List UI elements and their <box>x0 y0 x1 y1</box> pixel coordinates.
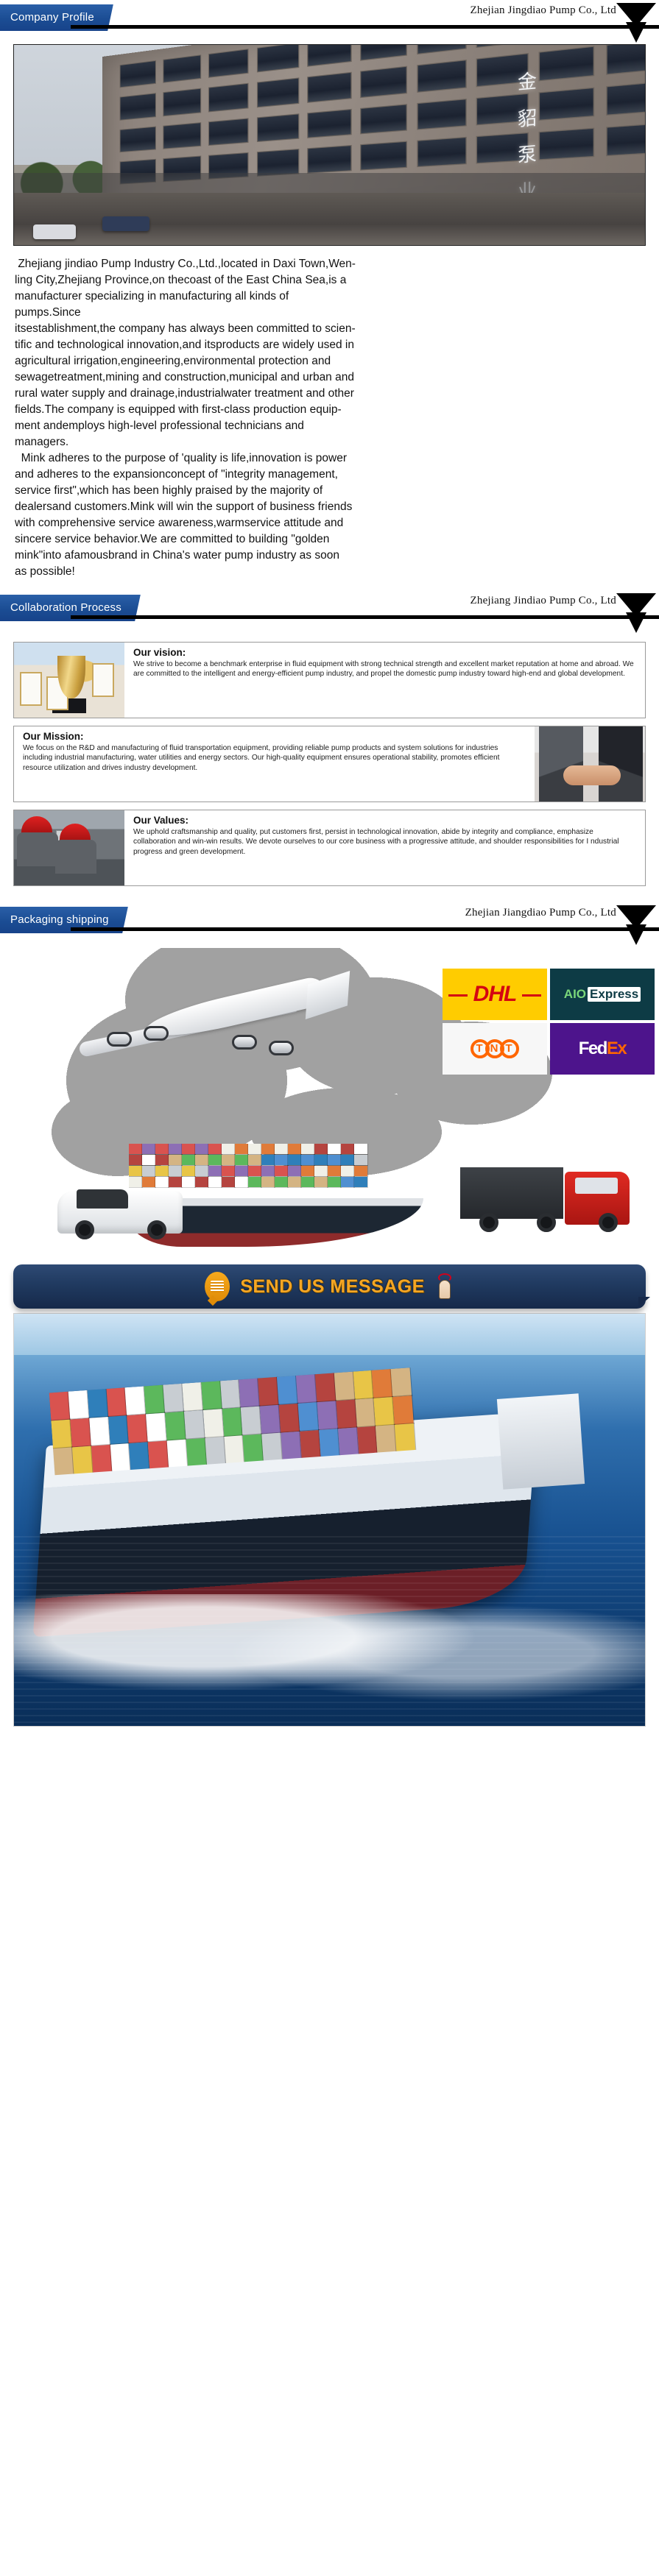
building-window <box>417 60 466 93</box>
shipping-container <box>129 1144 142 1154</box>
shipping-container <box>144 1384 165 1414</box>
shipping-container <box>354 1177 367 1187</box>
shipping-container <box>341 1166 354 1176</box>
shipping-container <box>353 1370 374 1399</box>
shipping-container <box>328 1166 341 1176</box>
building-window <box>208 49 248 79</box>
shipping-container <box>130 1442 150 1471</box>
card-text: Our Mission: We focus on the R&D and man… <box>14 726 535 802</box>
shipping-container <box>129 1166 142 1176</box>
semi-truck-icon <box>460 1164 630 1241</box>
shipping-container <box>334 1371 355 1401</box>
shipping-container <box>248 1166 261 1176</box>
shipping-container <box>222 1177 235 1187</box>
shipping-container <box>195 1166 208 1176</box>
building-window <box>307 109 351 138</box>
shipping-container <box>52 1419 72 1448</box>
building-window <box>257 45 299 73</box>
value-cards-list: Our vision: We strive to become a benchm… <box>13 642 646 886</box>
shipping-container <box>248 1144 261 1154</box>
card-our-mission: Our Mission: We focus on the R&D and man… <box>13 726 646 802</box>
shipping-container <box>220 1379 241 1409</box>
shipping-container <box>222 1166 235 1176</box>
shipping-container <box>169 1144 182 1154</box>
building-window <box>539 127 595 160</box>
shipping-container <box>208 1155 222 1165</box>
shipping-container <box>186 1438 207 1468</box>
shipping-container <box>288 1166 301 1176</box>
header-company-name: Zhejian Jiangdiao Pump Co., Ltd <box>465 907 616 919</box>
logo-dhl: DHL <box>443 969 547 1020</box>
building-window <box>606 45 645 75</box>
shipping-container <box>354 1155 367 1165</box>
section-header-packaging-shipping: Packaging shipping Zhejian Jiangdiao Pum… <box>0 902 659 941</box>
card-title: Our Mission: <box>23 731 527 742</box>
shipping-container <box>208 1144 222 1154</box>
shipping-container <box>288 1177 301 1187</box>
shipping-container <box>72 1446 93 1474</box>
parked-car <box>102 216 149 231</box>
ex-wordmark: Ex <box>607 1038 626 1059</box>
shipping-container <box>163 1383 184 1412</box>
shipping-container <box>275 1166 288 1176</box>
dhl-wordmark: DHL <box>468 982 523 1007</box>
shipping-container <box>395 1423 415 1453</box>
card-title: Our Values: <box>133 815 638 826</box>
triangle-marker-small-icon <box>626 612 646 633</box>
shipping-container <box>248 1155 261 1165</box>
shipping-container <box>208 1166 222 1176</box>
shipping-container <box>319 1429 339 1458</box>
shipping-container <box>142 1144 155 1154</box>
building-window <box>307 45 351 68</box>
shipping-container <box>376 1425 397 1454</box>
shipping-container <box>315 1373 336 1402</box>
sea-photo-frame <box>13 1313 646 1727</box>
shipping-container <box>195 1177 208 1187</box>
shipping-container <box>201 1381 222 1410</box>
tnt-letter: T <box>500 1039 519 1058</box>
header-company-name: Zhejiang Jindiao Pump Co., Ltd <box>471 595 617 607</box>
shipping-container <box>317 1401 338 1430</box>
shipping-container <box>277 1376 297 1405</box>
shipping-container <box>275 1177 288 1187</box>
building-window <box>606 123 645 157</box>
shipping-container <box>195 1144 208 1154</box>
shipping-container <box>53 1447 74 1475</box>
shipping-container <box>49 1391 70 1420</box>
courier-logos: DHL AIOExpress TNT FedEx <box>443 969 656 1075</box>
sky-region <box>14 1314 645 1355</box>
shipping-container <box>260 1404 281 1434</box>
shipping-container <box>155 1155 169 1165</box>
building-window <box>361 45 408 62</box>
shipping-container <box>243 1434 264 1463</box>
shipping-container <box>300 1430 321 1459</box>
building-window <box>163 88 201 116</box>
fence <box>14 173 645 193</box>
shipping-container <box>182 1155 195 1165</box>
send-us-message-button[interactable]: SEND US MESSAGE <box>13 1264 646 1309</box>
building-window <box>307 145 351 174</box>
shipping-container <box>314 1177 328 1187</box>
header-rule <box>71 25 659 29</box>
shipping-container <box>275 1155 288 1165</box>
building-window <box>119 93 155 121</box>
building-window <box>361 104 408 134</box>
building-window <box>417 137 466 167</box>
shipping-container <box>235 1144 248 1154</box>
shipping-container <box>338 1427 359 1457</box>
shipping-container <box>341 1177 354 1187</box>
shipping-container <box>298 1402 319 1432</box>
header-rule <box>71 615 659 619</box>
shipping-container <box>182 1144 195 1154</box>
building-window <box>257 113 299 142</box>
shipping-illustration: DHL AIOExpress TNT FedEx <box>0 944 659 1260</box>
header-company-name: Zhejian Jingdiao Pump Co., Ltd <box>471 4 617 17</box>
shipping-container <box>106 1387 127 1417</box>
shipping-container <box>281 1432 302 1461</box>
card-title: Our vision: <box>133 647 638 658</box>
shipping-container <box>142 1166 155 1176</box>
logo-aio-express: AIOExpress <box>550 969 655 1020</box>
shipping-container <box>341 1144 354 1154</box>
shipping-container <box>205 1437 226 1466</box>
building-window <box>417 45 466 55</box>
shipping-container <box>242 1406 262 1435</box>
handshake <box>563 765 621 785</box>
shipping-container <box>288 1144 301 1154</box>
sign-char-1: 金 <box>518 71 537 92</box>
shipping-container <box>224 1435 244 1465</box>
header-rule <box>71 927 659 931</box>
shipping-container <box>169 1155 182 1165</box>
building-window <box>119 61 155 89</box>
shipping-container <box>393 1395 414 1425</box>
shipping-container <box>68 1390 89 1419</box>
factory-photo-frame: 金 貂 泵 业 <box>13 44 646 246</box>
card-text: Our Values: We uphold craftsmanship and … <box>124 810 645 885</box>
shipping-container <box>108 1415 129 1445</box>
card-our-values: Our Values: We uphold craftsmanship and … <box>13 810 646 886</box>
shipping-container <box>91 1445 112 1474</box>
chat-bubble-icon <box>205 1272 230 1301</box>
shipping-container <box>355 1398 376 1427</box>
send-message-banner-wrap: SEND US MESSAGE <box>13 1264 646 1309</box>
shipping-container <box>183 1382 203 1412</box>
shipping-container <box>328 1177 341 1187</box>
logo-fedex: FedEx <box>550 1023 655 1075</box>
shipping-container <box>354 1166 367 1176</box>
shipping-container <box>155 1144 169 1154</box>
card-body: We strive to become a benchmark enterpri… <box>133 659 638 679</box>
shipping-container <box>288 1155 301 1165</box>
section-header-company-profile: Company Profile Zhejian Jingdiao Pump Co… <box>0 0 659 38</box>
shipping-container <box>248 1177 261 1187</box>
shipping-container <box>341 1155 354 1165</box>
worker-coat <box>17 832 58 866</box>
ship-bridge <box>497 1393 585 1490</box>
shipping-container <box>262 1432 283 1462</box>
shipping-container <box>301 1166 314 1176</box>
worker-coat <box>55 840 96 874</box>
shipping-container <box>222 1407 243 1437</box>
shipping-container <box>182 1166 195 1176</box>
building-window <box>361 141 408 170</box>
building-window <box>208 83 248 112</box>
building-window <box>539 46 595 81</box>
shipping-container <box>391 1367 412 1397</box>
card-our-vision: Our vision: We strive to become a benchm… <box>13 642 646 718</box>
building-window <box>476 45 529 49</box>
container-ship-at-sea-photo <box>14 1314 645 1726</box>
shipping-container <box>372 1369 392 1398</box>
building-window <box>163 122 201 149</box>
shipping-container <box>88 1389 108 1418</box>
banner-tail <box>638 1297 650 1307</box>
shipping-container <box>301 1144 314 1154</box>
shipping-container <box>314 1166 328 1176</box>
logo-tnt: TNT <box>443 1023 547 1075</box>
shipping-container <box>314 1144 328 1154</box>
shipping-container <box>275 1144 288 1154</box>
shipping-container <box>71 1418 91 1447</box>
cargo-plane-icon <box>63 977 357 1066</box>
building-window <box>119 126 155 152</box>
shipping-container <box>357 1426 378 1455</box>
trophy-and-certificates-photo <box>14 643 124 718</box>
shipping-container <box>222 1144 235 1154</box>
building-window <box>606 81 645 116</box>
express-wordmark: Express <box>588 987 641 1002</box>
triangle-marker-small-icon <box>626 924 646 945</box>
delivery-van-icon <box>57 1178 190 1241</box>
shipping-container <box>314 1155 328 1165</box>
fed-wordmark: Fed <box>579 1038 607 1059</box>
shipping-container <box>261 1155 275 1165</box>
shipping-container <box>336 1399 356 1429</box>
shipping-container <box>169 1166 182 1176</box>
shipping-container <box>239 1378 260 1407</box>
building-window <box>257 78 299 107</box>
aio-wordmark: AIO <box>564 987 586 1002</box>
company-profile-text: Zhejiang jindiao Pump Industry Co.,Ltd.,… <box>15 256 644 580</box>
shipping-container <box>258 1376 279 1406</box>
shipping-container <box>155 1166 169 1176</box>
shipping-container <box>301 1177 314 1187</box>
building-window <box>163 55 201 84</box>
building-window <box>208 118 248 146</box>
shipping-container <box>147 1412 167 1442</box>
building-window <box>307 73 351 103</box>
triangle-marker-small-icon <box>626 22 646 43</box>
shipping-container <box>110 1443 131 1473</box>
workers-red-helmets-photo <box>14 810 124 885</box>
card-body: We focus on the R&D and manufacturing of… <box>23 743 527 773</box>
shipping-container <box>165 1411 186 1440</box>
shipping-container <box>235 1177 248 1187</box>
click-hand-icon <box>435 1274 454 1299</box>
shipping-container <box>125 1386 146 1415</box>
shipping-container <box>374 1397 395 1426</box>
factory-building-photo: 金 貂 泵 业 <box>14 45 645 245</box>
shipping-container <box>235 1155 248 1165</box>
shipping-container <box>222 1155 235 1165</box>
shipping-container <box>328 1155 341 1165</box>
business-handshake-photo <box>535 726 645 802</box>
shipping-container <box>208 1177 222 1187</box>
shipping-container <box>129 1155 142 1165</box>
building-window <box>361 66 408 97</box>
shipping-container <box>279 1404 300 1433</box>
shipping-container <box>127 1414 148 1443</box>
building-window <box>539 87 595 121</box>
shipping-container <box>354 1144 367 1154</box>
shipping-container <box>167 1439 188 1468</box>
water-ripples <box>14 1536 645 1726</box>
sign-char-3: 泵 <box>518 145 537 166</box>
send-message-label: SEND US MESSAGE <box>240 1276 425 1298</box>
shipping-container <box>328 1144 341 1154</box>
building-window <box>417 99 466 130</box>
shipping-container <box>203 1409 224 1438</box>
shipping-container <box>142 1155 155 1165</box>
shipping-container <box>89 1417 110 1446</box>
shipping-container <box>301 1155 314 1165</box>
sign-char-2: 貂 <box>518 108 537 129</box>
card-body: We uphold craftsmanship and quality, put… <box>133 827 638 857</box>
shipping-container <box>261 1144 275 1154</box>
card-text: Our vision: We strive to become a benchm… <box>124 643 645 718</box>
shipping-container <box>261 1177 275 1187</box>
section-header-collaboration-process: Collaboration Process Zhejiang Jindiao P… <box>0 590 659 629</box>
shipping-container <box>184 1410 205 1440</box>
shipping-container <box>296 1374 317 1404</box>
shipping-container <box>261 1166 275 1176</box>
shipping-container <box>148 1440 169 1470</box>
shipping-container <box>235 1166 248 1176</box>
shipping-container <box>195 1155 208 1165</box>
parked-car <box>33 224 76 239</box>
